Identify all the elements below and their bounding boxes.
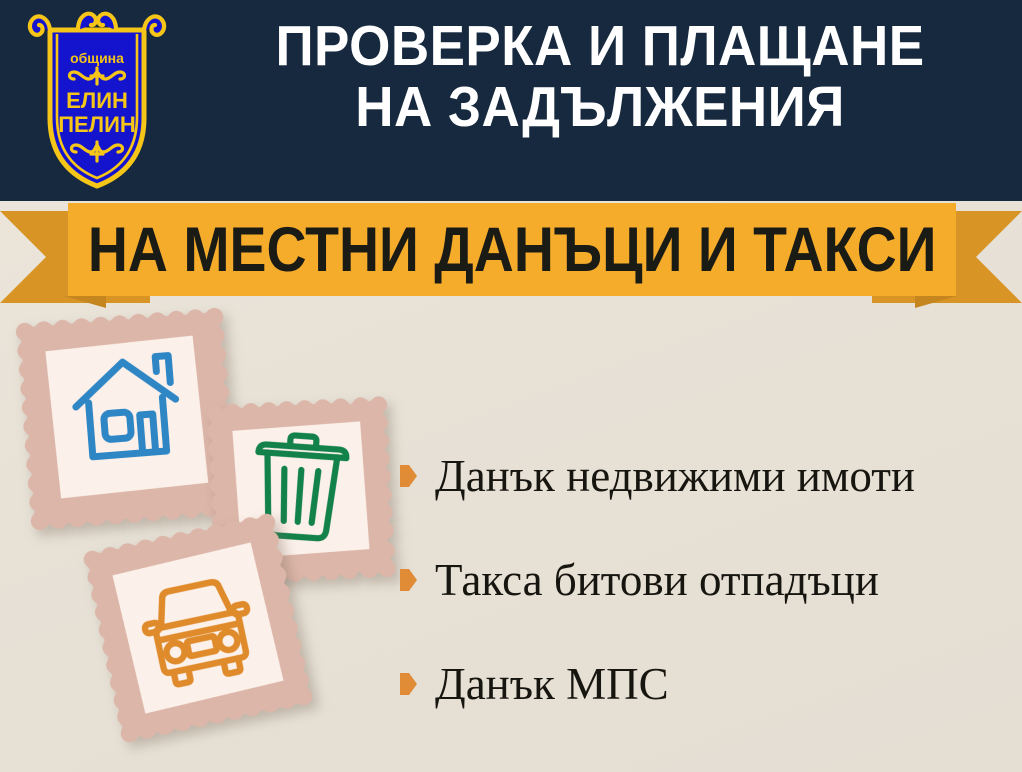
ribbon-center-panel: НА МЕСТНИ ДАНЪЦИ И ТАКСИ [68,203,956,296]
list-item-label: Данък недвижими имоти [435,451,915,501]
list-item[interactable]: Данък недвижими имоти [400,424,1010,528]
stamp-vehicle-tax [79,509,316,746]
crest-line-pelin: ПЕЛИН [58,112,136,137]
crest-line-obshtina: община [70,50,124,66]
list-item[interactable]: Данък МПС [400,632,1010,736]
ribbon-banner: НА МЕСТНИ ДАНЪЦИ И ТАКСИ [0,200,1022,310]
tax-type-list: Данък недвижими имоти Такса битови отпад… [400,424,1010,736]
arrow-bullet-icon [400,673,417,695]
list-item[interactable]: Такса битови отпадъци [400,528,1010,632]
ribbon-label: НА МЕСТНИ ДАНЪЦИ И ТАКСИ [88,218,937,282]
list-item-label: Такса битови отпадъци [435,555,879,605]
crest-line-elin: ЕЛИН [66,88,128,113]
arrow-bullet-icon [400,465,417,487]
list-item-label: Данък МПС [435,659,669,709]
municipality-crest-logo: община ЕЛИН ПЕЛИН [24,6,170,192]
poster-canvas: ПРОВЕРКА И ПЛАЩАНЕ НА ЗАДЪЛЖЕНИЯ община [0,0,1022,772]
arrow-bullet-icon [400,569,417,591]
page-title: ПРОВЕРКА И ПЛАЩАНЕ НА ЗАДЪЛЖЕНИЯ [214,16,986,138]
